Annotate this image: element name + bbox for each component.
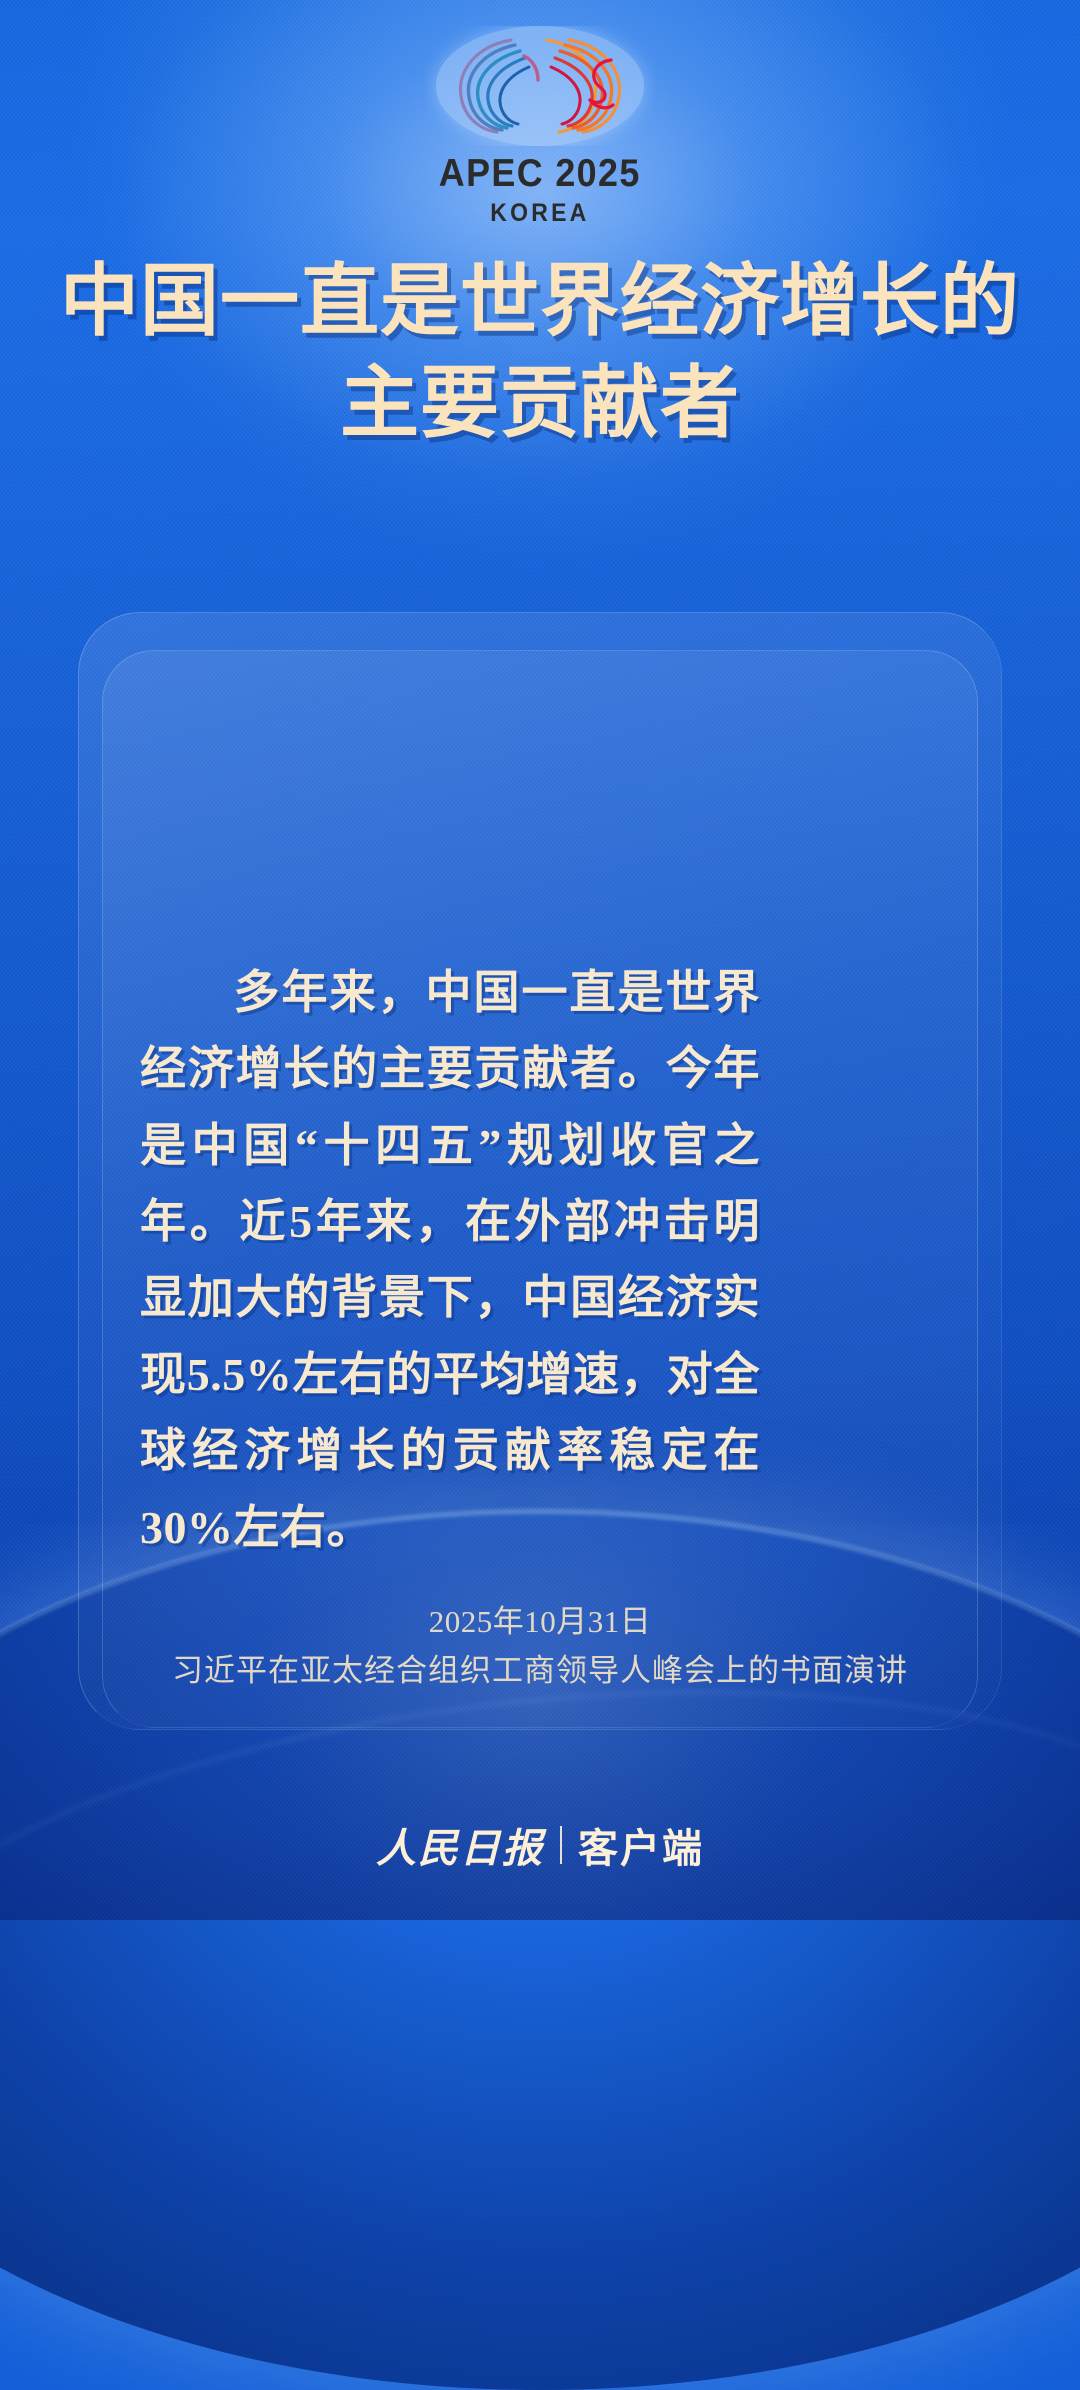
page-title: 中国一直是世界经济增长的 主要贡献者 — [0, 252, 1080, 456]
publisher-footer: 人民日报 客户端 — [0, 1816, 1080, 1874]
headline-line-2: 主要贡献者 — [30, 354, 1050, 456]
emblem-subtitle: KOREA — [490, 199, 589, 228]
publisher-product: 客户端 — [562, 1816, 704, 1874]
apec-butterfly-face-logo-icon — [425, 26, 655, 146]
quote-body-paragraph: 多年来，中国一直是世界经济增长的主要贡献者。今年是中国“十四五”规划收官之年。近… — [140, 967, 760, 1553]
publisher-brand: 人民日报 — [376, 1816, 560, 1874]
attribution-source: 习近平在亚太经合组织工商领导人峰会上的书面演讲 — [0, 1649, 1080, 1694]
headline-line-1: 中国一直是世界经济增长的 — [30, 252, 1050, 354]
apec-emblem: APEC 2025 KOREA — [0, 26, 1080, 228]
emblem-title: APEC 2025 — [439, 152, 641, 196]
quote-body-text: 多年来，中国一直是世界经济增长的主要贡献者。今年是中国“十四五”规划收官之年。近… — [140, 955, 760, 1566]
vertical-divider-icon — [560, 1826, 562, 1864]
attribution: 2025年10月31日 习近平在亚太经合组织工商领导人峰会上的书面演讲 — [0, 1600, 1080, 1694]
attribution-date: 2025年10月31日 — [0, 1600, 1080, 1645]
